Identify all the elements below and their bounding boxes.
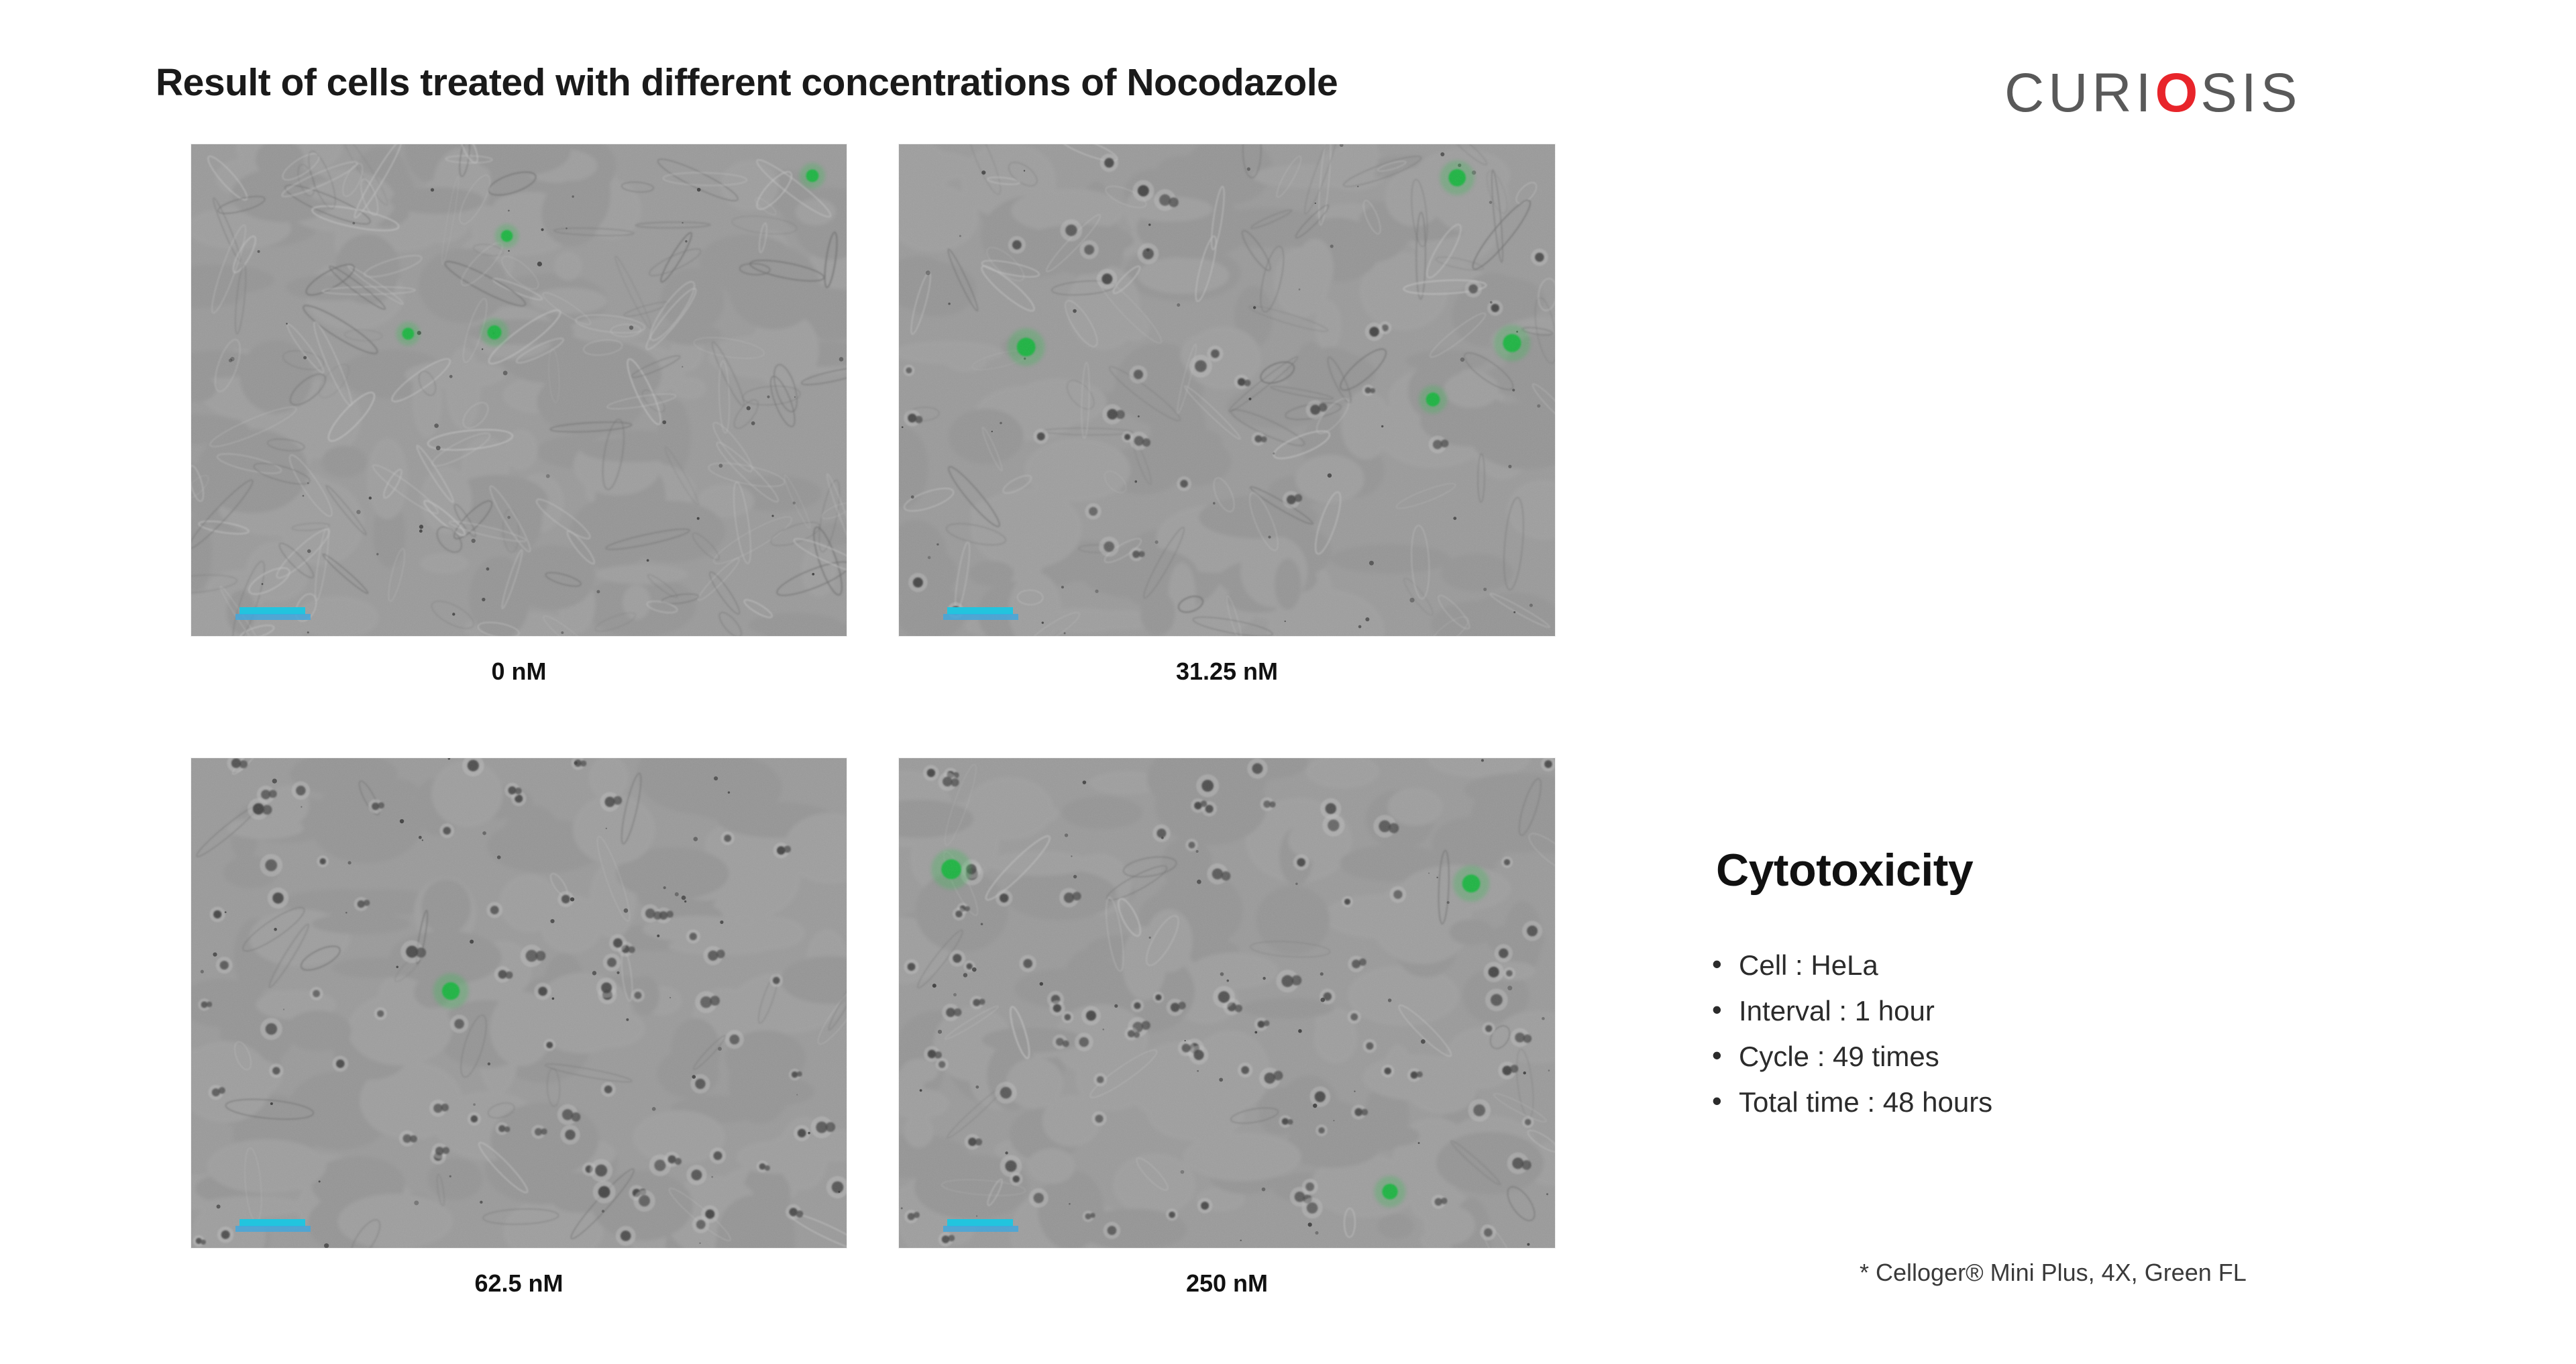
list-item: Cycle : 49 times [1712, 1034, 1992, 1080]
micrograph-panel-250-nm[interactable]: 250 nM [899, 758, 1555, 1248]
scale-bar [239, 1219, 305, 1226]
scale-bar [947, 607, 1013, 615]
logo-accent-o: O [2155, 62, 2200, 123]
list-item: Total time : 48 hours [1712, 1080, 1992, 1125]
footnote: * Celloger® Mini Plus, 4X, Green FL [1860, 1259, 2247, 1287]
page-title: Result of cells treated with different c… [156, 60, 1338, 105]
micrograph-panel-62-5-nm[interactable]: 62.5 nM [191, 758, 847, 1248]
micrograph-image [899, 758, 1555, 1248]
logo-text-part-2: SIS [2200, 62, 2301, 123]
micrograph-image [899, 144, 1555, 636]
panel-caption: 0 nM [191, 658, 847, 686]
curiosis-logo: CURIOSIS [2004, 66, 2301, 121]
scale-bar [239, 607, 305, 615]
slide-canvas: Result of cells treated with different c… [0, 0, 2576, 1364]
list-item: Interval : 1 hour [1712, 988, 1992, 1034]
panel-caption: 62.5 nM [191, 1269, 847, 1298]
micrograph-image [191, 758, 847, 1248]
list-item: Cell : HeLa [1712, 943, 1992, 988]
logo-text-part-1: CURI [2004, 62, 2155, 123]
info-heading: Cytotoxicity [1716, 844, 1973, 896]
info-bullet-list: Cell : HeLa Interval : 1 hour Cycle : 49… [1712, 943, 1992, 1125]
micrograph-panel-31-25-nm[interactable]: 31.25 nM [899, 144, 1555, 636]
micrograph-panel-0-nm[interactable]: 0 nM [191, 144, 847, 636]
panel-caption: 250 nM [899, 1269, 1555, 1298]
micrograph-image [191, 144, 847, 636]
scale-bar [947, 1219, 1013, 1226]
panel-caption: 31.25 nM [899, 658, 1555, 686]
